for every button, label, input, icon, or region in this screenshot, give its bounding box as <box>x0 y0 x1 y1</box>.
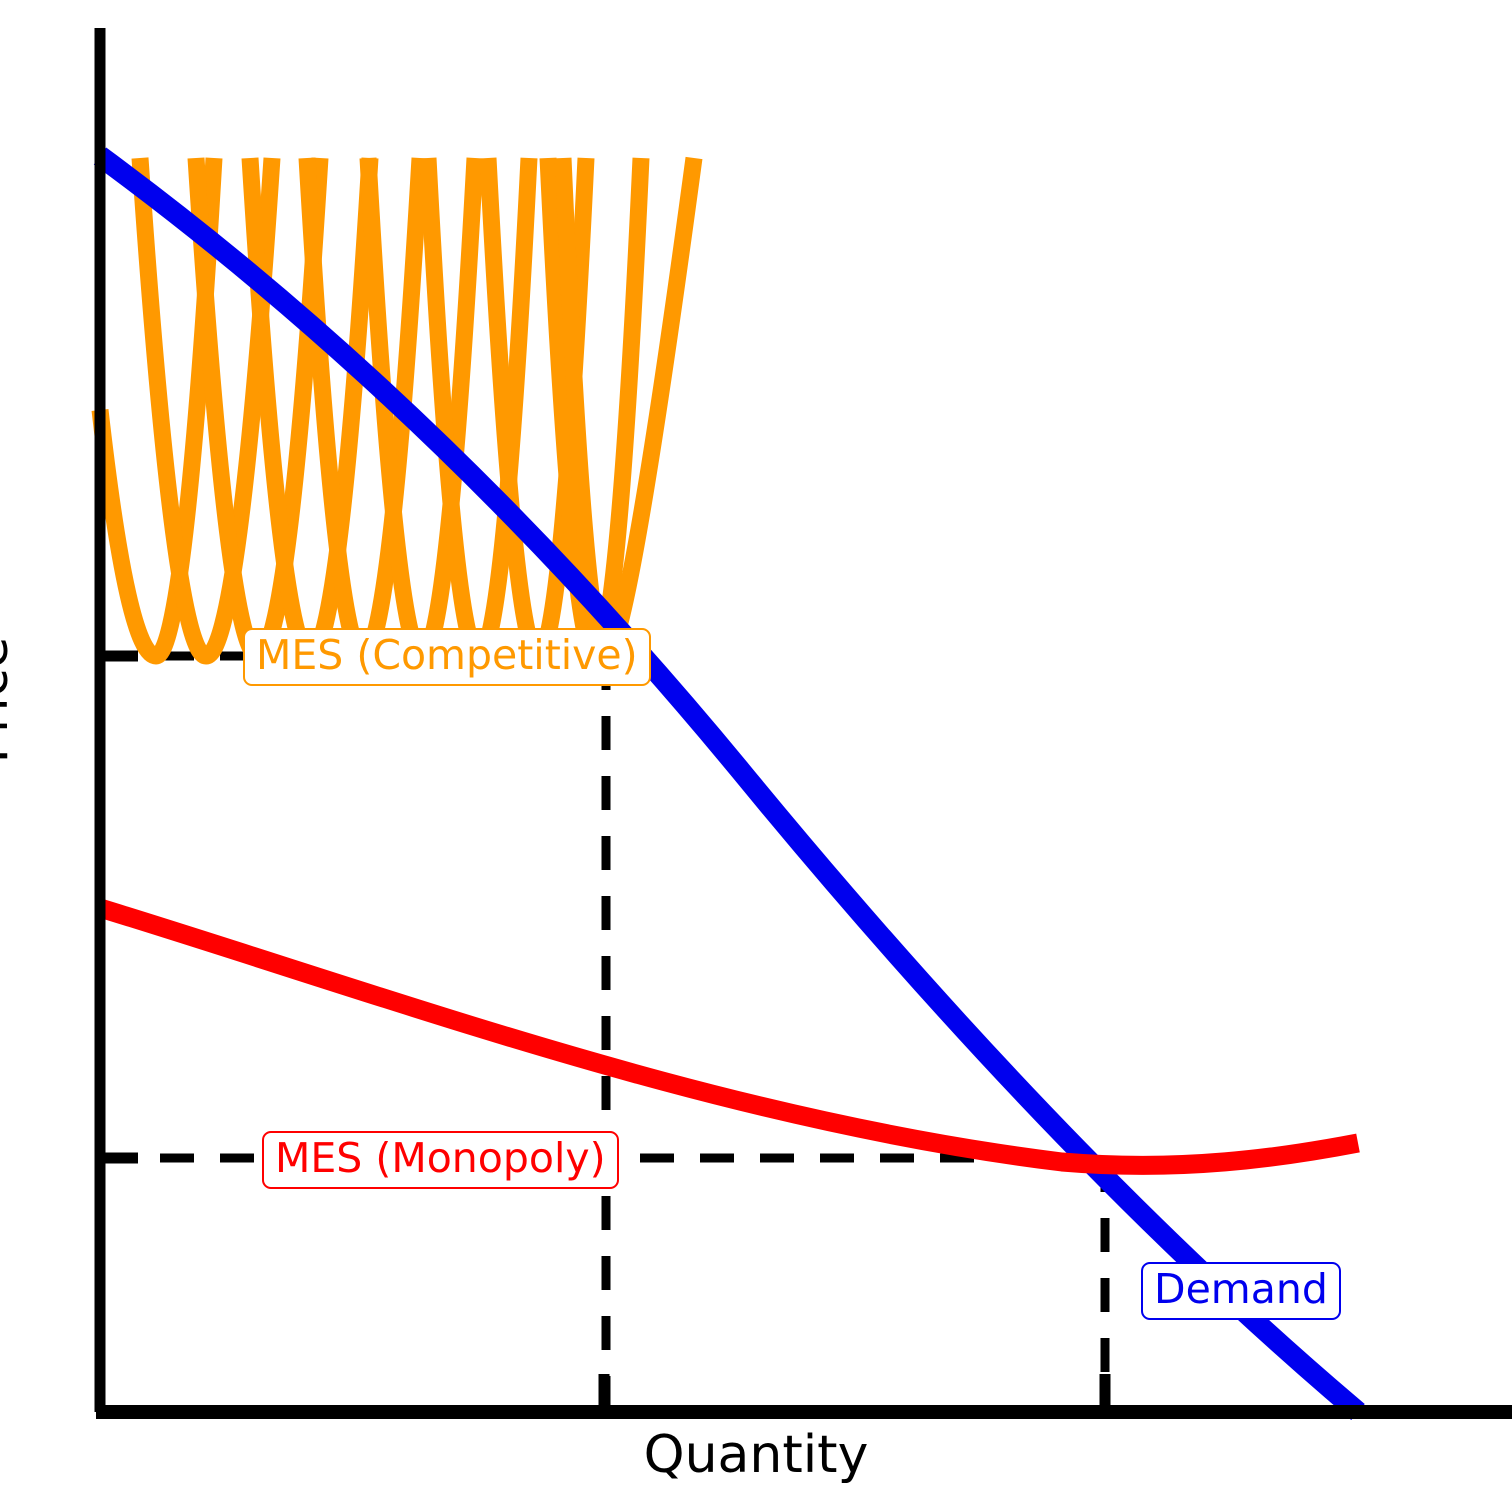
guide-lines <box>100 656 1105 1412</box>
label-mes-competitive: MES (Competitive) <box>243 628 651 686</box>
y-axis-title: Price <box>0 620 20 780</box>
x-axis-title: Quantity <box>0 1425 1512 1485</box>
demand-curve <box>100 156 1358 1412</box>
mes-monopoly-curve <box>100 908 1358 1165</box>
label-mes-monopoly: MES (Monopoly) <box>262 1131 619 1189</box>
chart-canvas: Quantity Price MES (Competitive) MES (Mo… <box>0 0 1512 1512</box>
label-demand: Demand <box>1141 1262 1341 1320</box>
